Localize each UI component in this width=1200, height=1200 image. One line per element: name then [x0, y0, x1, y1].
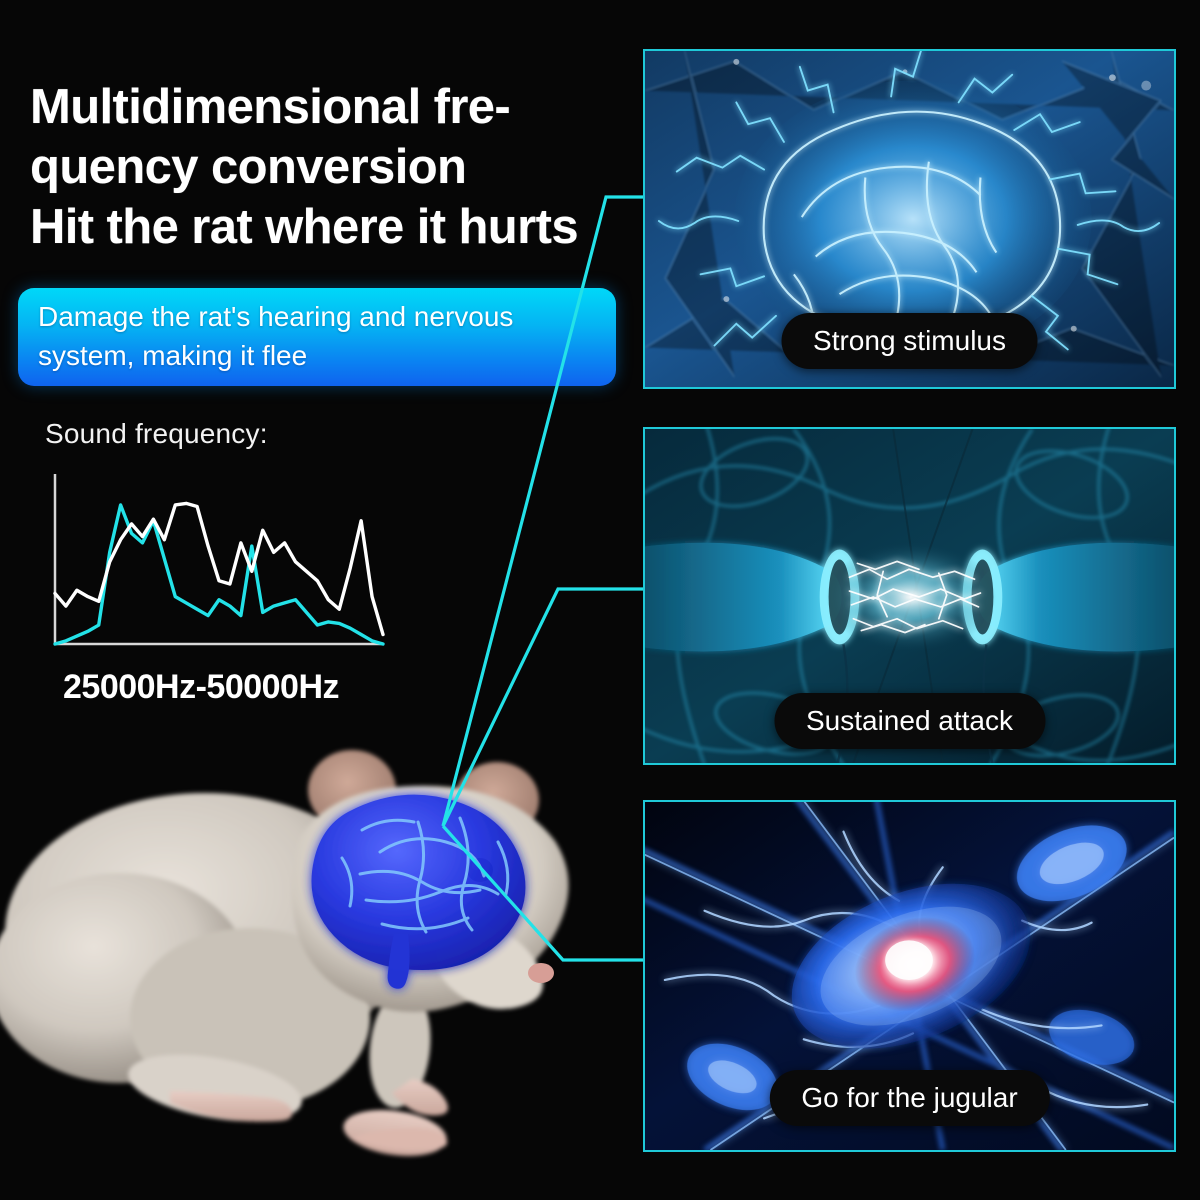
waveform-series-cyan — [55, 505, 383, 644]
frequency-waveform-chart — [45, 472, 390, 662]
panel-strong-stimulus[interactable]: Strong stimulus — [643, 49, 1176, 389]
sound-frequency-title: Sound frequency: — [45, 418, 425, 450]
panel-go-for-the-jugular[interactable]: Go for the jugular — [643, 800, 1176, 1152]
panel-2-label: Sustained attack — [774, 693, 1045, 749]
page-title: Multidimensional fre- quency conversion … — [30, 78, 650, 257]
panel-sustained-attack[interactable]: Sustained attack — [643, 427, 1176, 765]
subtitle-text: Damage the rat's hearing and nervous sys… — [18, 298, 533, 375]
sound-frequency-block: Sound frequency: 25000Hz-50000Hz — [45, 418, 425, 707]
subtitle-badge: Damage the rat's hearing and nervous sys… — [18, 288, 616, 386]
waveform-series-white — [55, 503, 383, 634]
infographic-canvas: Multidimensional fre- quency conversion … — [0, 0, 1200, 1200]
panel-1-label: Strong stimulus — [781, 313, 1038, 369]
waveform-svg — [45, 472, 390, 662]
rat-illustration — [0, 718, 640, 1168]
rat-photo — [0, 718, 640, 1168]
frequency-range-label: 25000Hz-50000Hz — [63, 668, 425, 707]
panel-3-label: Go for the jugular — [769, 1070, 1049, 1126]
